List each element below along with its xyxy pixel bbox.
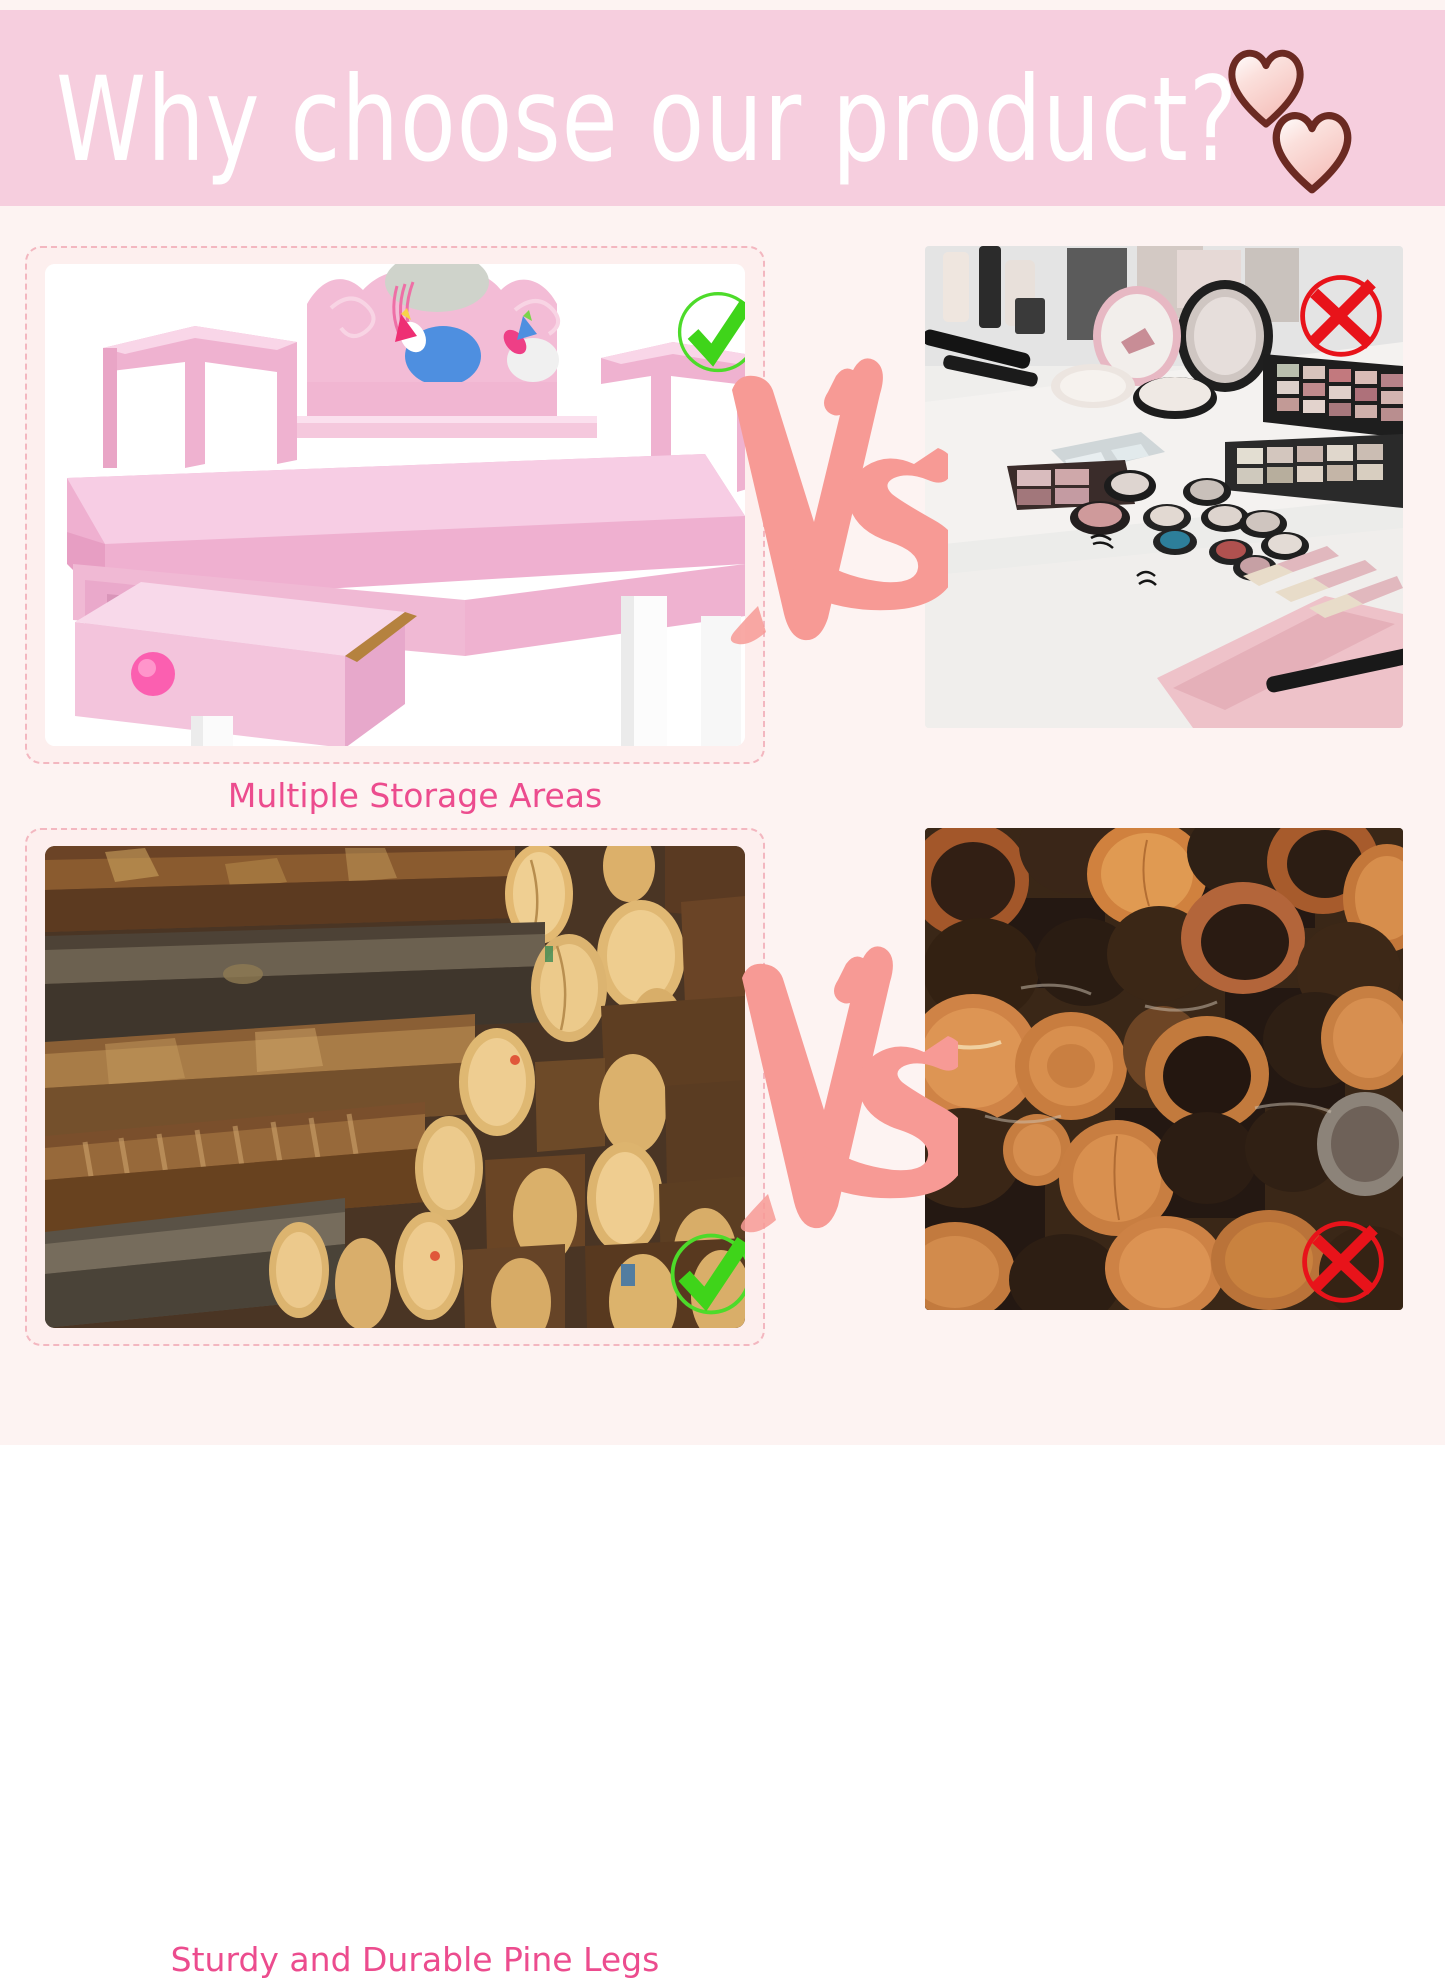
vs-separator-row1 [718,356,948,646]
heart-icon [1267,106,1357,198]
comparison-grid: Multiple Storage Areas [0,218,1445,1445]
product-photo-pine-logs [45,846,745,1328]
red-x-icon [1293,266,1389,362]
header-band: Why choose our product? [0,10,1445,206]
caption-pro-row1: Multiple Storage Areas [25,776,805,815]
vs-separator-row2 [728,944,958,1234]
comparison-con-panel-row2: Recycled Cheap Wood [925,828,1403,1326]
product-photo-vanity-desk [45,264,745,746]
infographic-page: Why choose our product? [0,0,1445,1445]
product-photo-makeup-table [925,246,1403,728]
heart-decoration-group [1205,44,1395,204]
comparison-pro-panel-row2: Sturdy and Durable Pine Legs [25,828,765,1346]
comparison-pro-panel-row1: Multiple Storage Areas [25,246,765,764]
green-check-icon [670,286,745,382]
product-photo-recycled-wood [925,828,1403,1310]
caption-pro-row2: Sturdy and Durable Pine Legs [25,1940,805,1979]
red-x-icon [1295,1212,1391,1308]
page-title: Why choose our product? [56,62,1238,179]
comparison-con-panel-row1: One Small Tabletop [925,246,1403,744]
green-check-icon [663,1226,745,1322]
